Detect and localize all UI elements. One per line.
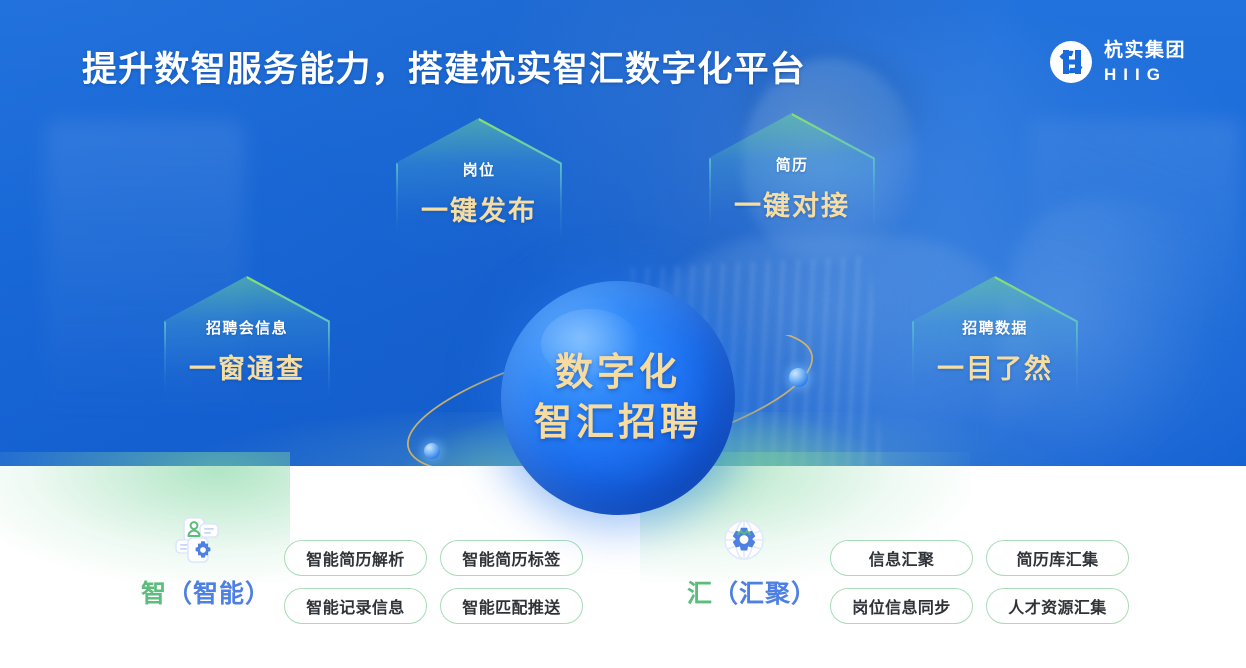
pill-item[interactable]: 智能记录信息 [284, 588, 427, 624]
badge-resume[interactable]: 简历 一键对接 [709, 113, 875, 249]
badge-subtitle: 招聘会信息 [206, 317, 288, 338]
cluster-hui-label: 汇（汇聚） [678, 574, 826, 610]
brand-name-cn: 杭实集团 [1104, 41, 1186, 60]
badge-title: 一目了然 [937, 347, 1053, 386]
cluster-zhi-key: 智（智能） [132, 512, 280, 632]
pill-item[interactable]: 智能简历标签 [440, 540, 583, 576]
cluster-hui-char: 汇 [687, 580, 713, 608]
cluster-zhi-label: 智（智能） [132, 574, 280, 610]
pill-item[interactable]: 岗位信息同步 [830, 588, 973, 624]
pill-item[interactable]: 人才资源汇集 [986, 588, 1129, 624]
badge-job[interactable]: 岗位 一键发布 [396, 118, 562, 254]
page-title: 提升数智服务能力，搭建杭实智汇数字化平台 [82, 41, 806, 92]
cluster-zhi-char: 智 [141, 580, 167, 608]
cluster-zhi-paren: （智能） [167, 580, 271, 608]
brand-name-en: HIIG [1104, 66, 1186, 83]
pill-item[interactable]: 信息汇聚 [830, 540, 973, 576]
pentagon-shape [912, 276, 1078, 412]
cluster-hui-key: 汇（汇聚） [678, 512, 826, 632]
badge-recruitment-data[interactable]: 招聘数据 一目了然 [912, 276, 1078, 412]
pill-item[interactable]: 智能匹配推送 [440, 588, 583, 624]
pill-item[interactable]: 智能简历解析 [284, 540, 427, 576]
pentagon-shape [164, 276, 330, 412]
pentagon-shape [396, 118, 562, 254]
badge-job-fair-info[interactable]: 招聘会信息 一窗通查 [164, 276, 330, 412]
brand-text: 杭实集团 HIIG [1104, 41, 1186, 83]
badge-title: 一键对接 [734, 184, 850, 223]
brand-logo: 杭实集团 HIIG [1049, 40, 1186, 84]
hiig-circular-h-monogram-icon [1049, 40, 1093, 84]
badge-subtitle: 岗位 [463, 159, 496, 180]
central-sphere[interactable]: 数字化 智汇招聘 [501, 281, 735, 515]
sphere-line-2: 智汇招聘 [534, 398, 702, 448]
badge-subtitle: 招聘数据 [962, 317, 1028, 338]
badge-subtitle: 简历 [776, 154, 809, 175]
globe-gear-network-icon [716, 512, 772, 568]
badge-title: 一窗通查 [189, 347, 305, 386]
person-gear-card-icon [170, 512, 226, 568]
infographic-poster: 提升数智服务能力，搭建杭实智汇数字化平台 杭实集团 HIIG 岗位 一键发布 简… [0, 0, 1246, 668]
badge-title: 一键发布 [421, 189, 537, 228]
orbit-node-upper-right-icon [789, 368, 808, 387]
orbit-node-lower-left-icon [424, 443, 440, 459]
cluster-hui-pills: 信息汇聚 简历库汇集 岗位信息同步 人才资源汇集 [830, 540, 1129, 624]
sphere-line-1: 数字化 [555, 348, 681, 398]
cluster-zhi-pills: 智能简历解析 智能简历标签 智能记录信息 智能匹配推送 [284, 540, 583, 624]
pentagon-shape [709, 113, 875, 249]
cluster-hui-paren: （汇聚） [713, 580, 817, 608]
pill-item[interactable]: 简历库汇集 [986, 540, 1129, 576]
